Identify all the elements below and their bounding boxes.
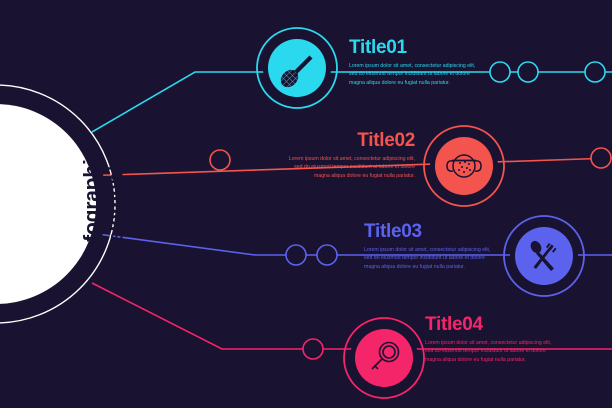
icon-circle-03[interactable]: [504, 216, 584, 296]
item-title-03: Title03: [364, 222, 496, 242]
item-text-block-01: Title01 Lorem ipsum dolor sit amet, cons…: [349, 38, 481, 87]
item-title-01: Title01: [349, 38, 481, 58]
node-marker[interactable]: [286, 245, 306, 265]
node-marker[interactable]: [490, 62, 510, 82]
item-body-03: Lorem ipsum dolor sit amet, consectetur …: [364, 246, 496, 271]
icon-circle-01[interactable]: [257, 28, 337, 108]
item-title-04: Title04: [425, 315, 557, 335]
node-marker[interactable]: [585, 62, 605, 82]
node-marker[interactable]: [317, 245, 337, 265]
node-markers-04: [303, 339, 323, 359]
infographic-canvas: Infographic element Title01 Lorem ipsum …: [0, 0, 612, 408]
node-marker[interactable]: [303, 339, 323, 359]
item-body-01: Lorem ipsum dolor sit amet, consectetur …: [349, 62, 481, 87]
item-text-block-02: Title02 Lorem ipsum dolor sit amet, cons…: [283, 131, 415, 180]
hub-circle[interactable]: [0, 85, 115, 323]
item-body-04: Lorem ipsum dolor sit amet, consectetur …: [425, 339, 557, 364]
node-marker[interactable]: [210, 150, 230, 170]
item-title-02: Title02: [283, 131, 415, 151]
item-text-block-04: Title04 Lorem ipsum dolor sit amet, cons…: [425, 315, 557, 364]
node-marker[interactable]: [518, 62, 538, 82]
icon-circle-02[interactable]: [424, 126, 504, 206]
item-body-02: Lorem ipsum dolor sit amet, consectetur …: [283, 155, 415, 180]
item-text-block-03: Title03 Lorem ipsum dolor sit amet, cons…: [364, 222, 496, 271]
node-marker[interactable]: [591, 148, 611, 168]
icon-circle-04[interactable]: [344, 318, 424, 398]
